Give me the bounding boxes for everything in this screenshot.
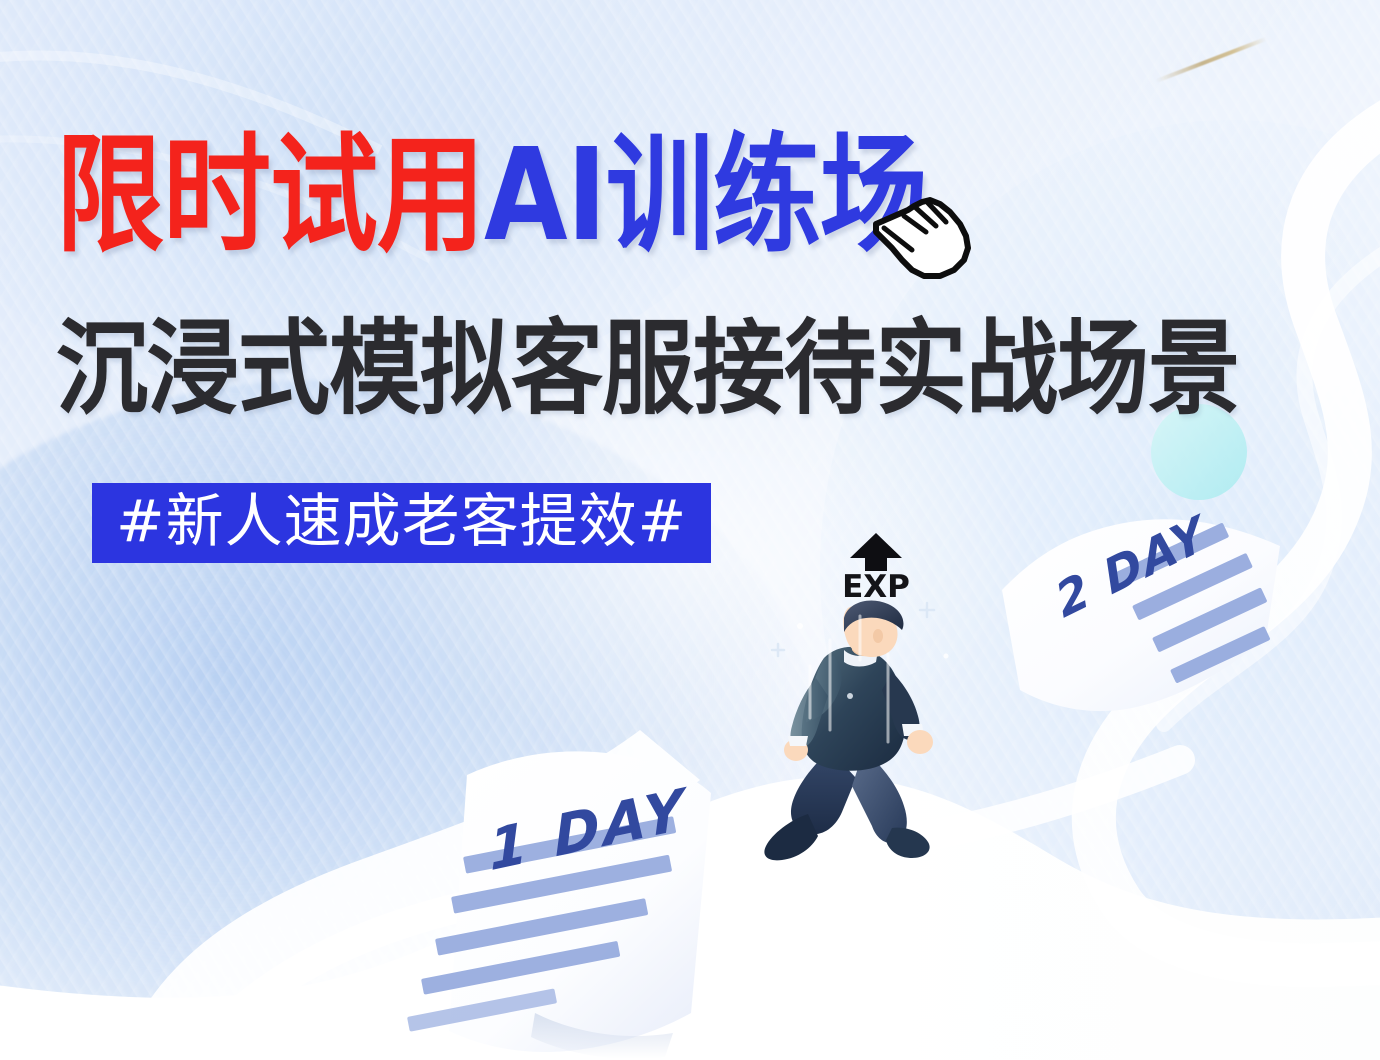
promo-banner: 限时试用 AI训练场 沉浸式模拟客服接待实战场景 #新人速成老客提效# EXP [0,0,1380,1060]
hashtag-badge: #新人速成老客提效# [92,483,711,563]
running-businessman-icon [752,600,972,872]
paper-sheet-1day [405,745,765,1060]
paper-sheet-2day [980,512,1300,732]
exp-label: EXP [838,572,914,603]
exp-indicator: EXP [838,533,914,603]
headline-red-text: 限时试用 [56,133,484,260]
gold-streak-decoration [1155,37,1267,83]
pointing-hand-cursor-icon [868,190,980,290]
headline-blue-text: AI训练场 [484,133,927,260]
arrow-up-icon [850,533,902,571]
headline-line-2: 沉浸式模拟客服接待实战场景 [56,318,1239,421]
headline-line-1: 限时试用 AI训练场 [56,152,927,260]
